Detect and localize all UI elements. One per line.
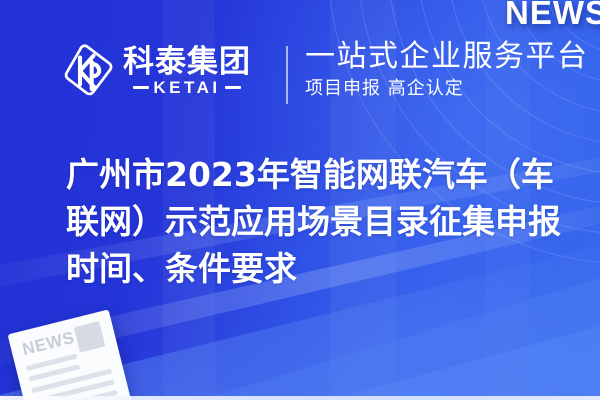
dash-left-icon: [133, 86, 149, 89]
banner-headline: 广州市2023年智能网联汽车（车联网）示范应用场景目录征集申报时间、条件要求: [66, 152, 576, 293]
brand-name-cn: 科泰集团: [123, 46, 251, 78]
tagline-secondary: 项目申报 高企认定: [305, 78, 589, 100]
kp-diamond-logo-icon: [62, 42, 116, 100]
tagline-primary: 一站式企业服务平台: [305, 40, 589, 74]
banner-header: 科泰集团 KETAI 一站式企业服务平台 项目申报 高企认定: [0, 38, 600, 112]
dash-right-icon: [225, 86, 241, 89]
newspaper-decoration: NEWS: [8, 309, 137, 400]
bottom-accent-strip: [0, 396, 600, 400]
header-divider: [286, 46, 288, 104]
brand-name-en: KETAI: [153, 79, 220, 96]
news-banner: NEWS 科泰集团 KETAI: [0, 0, 600, 400]
brand-tagline: 一站式企业服务平台 项目申报 高企认定: [305, 40, 589, 99]
brand-name-en-row: KETAI: [123, 79, 251, 96]
news-badge: NEWS: [505, 0, 600, 29]
brand-logo[interactable]: 科泰集团 KETAI: [62, 42, 251, 100]
brand-wordmark: 科泰集团 KETAI: [123, 46, 251, 96]
